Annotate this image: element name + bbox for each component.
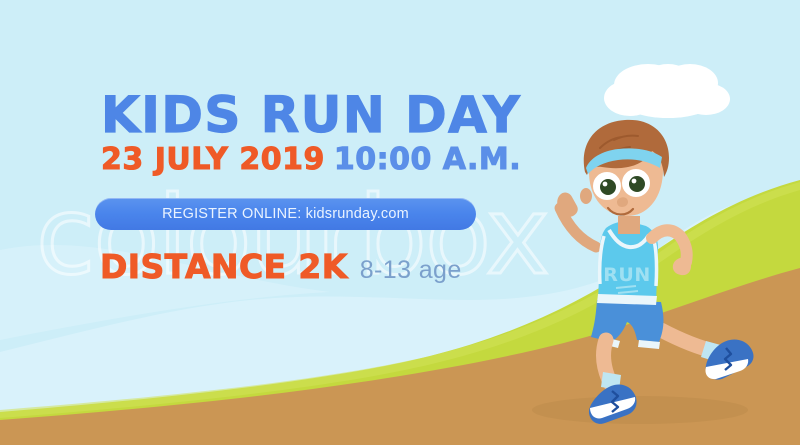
shirt-run-text: RUN: [603, 264, 650, 286]
poster-canvas: RUN: [0, 0, 800, 445]
runner-neck: [618, 216, 640, 234]
cloud-icon: [604, 64, 730, 118]
poster-illustration: RUN: [0, 0, 800, 445]
runner-ground-shadow: [532, 396, 748, 424]
